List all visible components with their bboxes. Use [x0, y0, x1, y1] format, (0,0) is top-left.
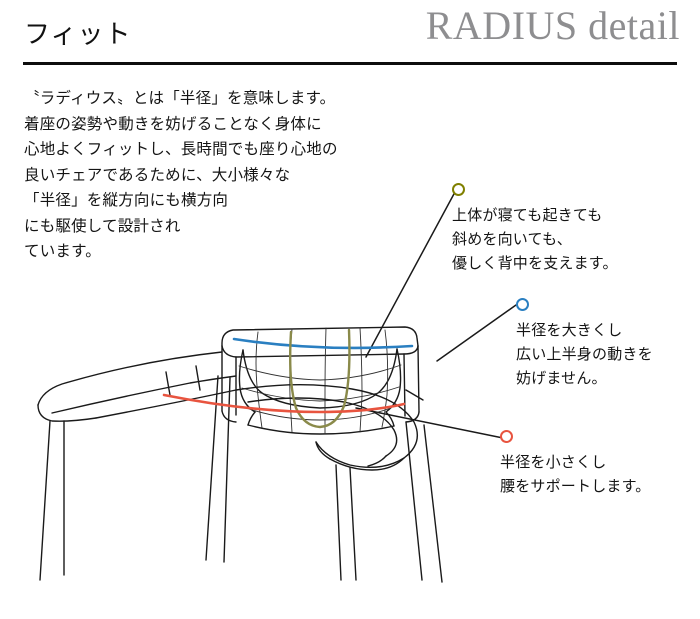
backrest-inner-panel	[239, 349, 400, 434]
callout-line: 斜めを向いても、	[452, 228, 618, 252]
page-title: フィット	[24, 14, 131, 51]
intro-line: 〝ラディウス〟とは「半径」を意味します。	[24, 86, 404, 112]
accent-curve-blue	[234, 339, 412, 348]
leader-line-upper-body	[366, 192, 455, 357]
leader-line-wide-radius	[437, 305, 516, 361]
marker-red-icon	[500, 430, 513, 443]
callout-line: 妨げません。	[516, 367, 653, 391]
page-header: フィット RADIUS detail	[0, 0, 700, 66]
header-divider	[23, 62, 677, 65]
callout-upper-body: 上体が寝ても起きても 斜めを向いても、 優しく背中を支えます。	[452, 180, 618, 276]
callout-wide-radius: 半径を大きくし 広い上半身の動きを 妨げません。	[516, 295, 653, 391]
callout-line: 半径を小さくし	[500, 451, 651, 475]
marker-olive-icon	[452, 183, 465, 196]
callout-line: 優しく背中を支えます。	[452, 252, 618, 276]
callout-line: 腰をサポートします。	[500, 475, 651, 499]
intro-line: 着座の姿勢や動きを妨げることなく身体に	[24, 112, 404, 138]
callout-line: 半径を大きくし	[516, 319, 653, 343]
left-armrest	[38, 352, 236, 421]
callout-line: 広い上半身の動きを	[516, 343, 653, 367]
radius-detail-page: フィット RADIUS detail 〝ラディウス〟とは「半径」を意味します。 …	[0, 0, 700, 619]
brand-title: RADIUS detail	[426, 2, 680, 49]
marker-blue-icon	[516, 298, 529, 311]
callout-small-radius: 半径を小さくし 腰をサポートします。	[500, 427, 651, 499]
callout-line: 上体が寝ても起きても	[452, 204, 618, 228]
